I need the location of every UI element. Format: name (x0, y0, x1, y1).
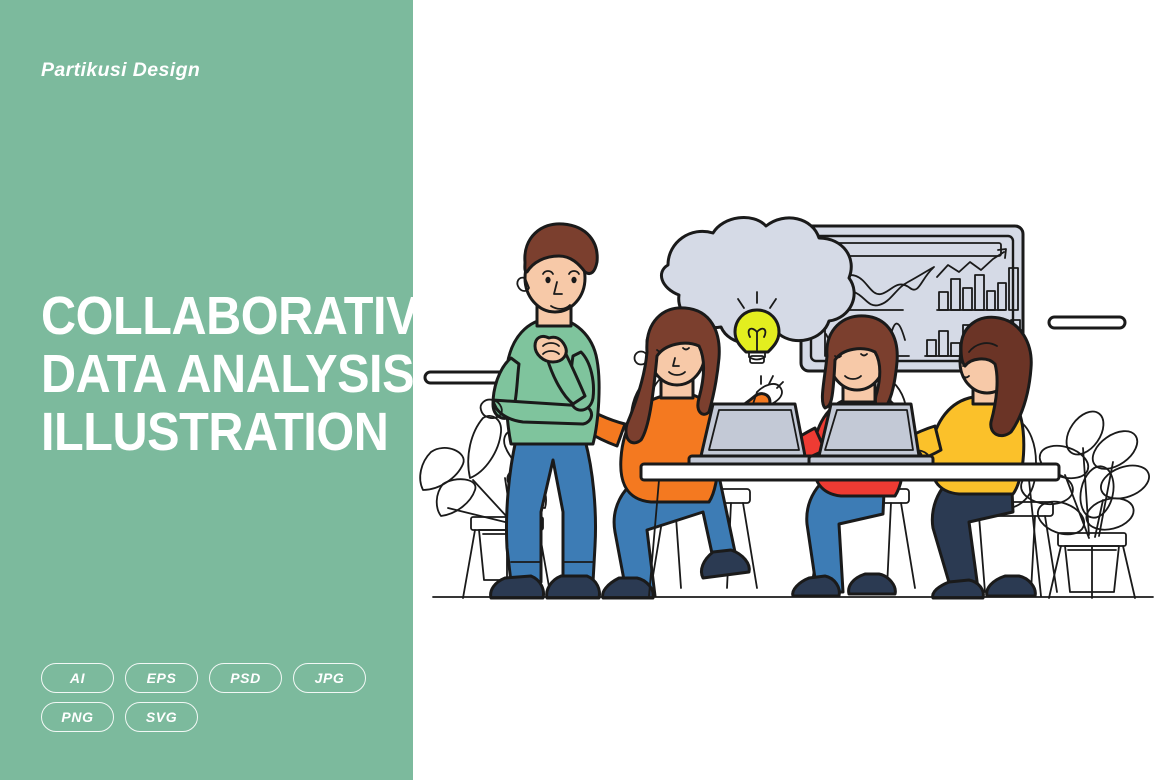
badge-row-1: AI EPS PSD JPG (41, 663, 381, 693)
wall-accent-line-left (425, 372, 505, 383)
page-title-line-3: ILLUSTRATION (41, 403, 365, 461)
page-title-line-2: DATA ANALYSIS (41, 345, 365, 403)
file-format-badges: AI EPS PSD JPG PNG SVG (41, 663, 381, 741)
badge-jpg[interactable]: JPG (293, 663, 366, 693)
poster-canvas: Partikusi Design COLLABORATIVE DATA ANAL… (0, 0, 1170, 780)
plant-pot-right[interactable] (1049, 533, 1135, 598)
badge-psd[interactable]: PSD (209, 663, 282, 693)
badge-eps[interactable]: EPS (125, 663, 198, 693)
badge-ai[interactable]: AI (41, 663, 114, 693)
standing-man-thinking (481, 224, 600, 598)
page-title-line-1: COLLABORATIVE (41, 287, 365, 345)
brand-name: Partikusi Design (41, 59, 200, 82)
badge-row-2: PNG SVG (41, 702, 381, 732)
badge-png[interactable]: PNG (41, 702, 114, 732)
page-title: COLLABORATIVE DATA ANALYSIS ILLUSTRATION (41, 287, 401, 461)
wall-accent-line-right (1049, 317, 1125, 328)
collaborative-data-analysis-illustration: .o { stroke:#1a1a1a; stroke-width:3; str… (413, 0, 1170, 780)
illustration-area: .o { stroke:#1a1a1a; stroke-width:3; str… (413, 0, 1170, 780)
left-green-panel: Partikusi Design COLLABORATIVE DATA ANAL… (0, 0, 413, 780)
badge-svg[interactable]: SVG (125, 702, 198, 732)
laptop-right[interactable] (809, 404, 933, 466)
